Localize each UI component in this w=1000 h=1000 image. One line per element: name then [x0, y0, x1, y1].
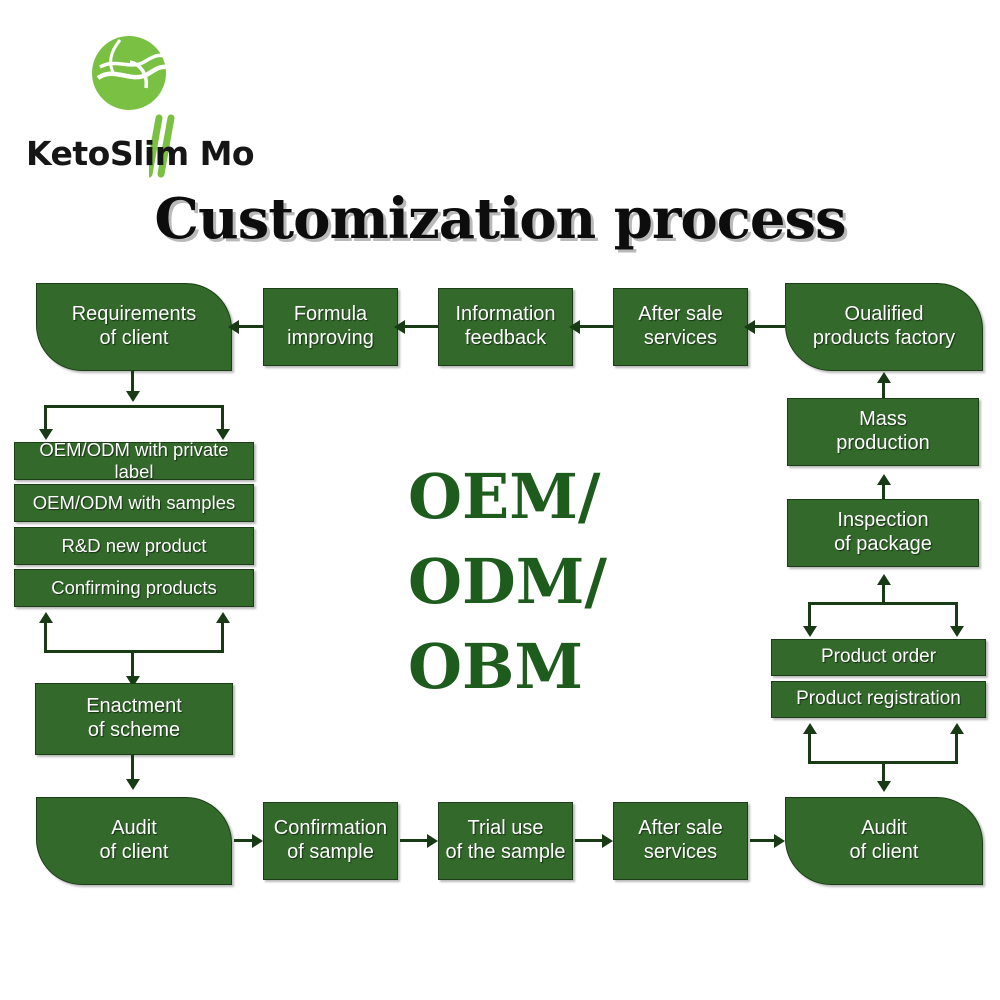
arrowhead-right-split-a — [803, 626, 817, 637]
connector-left-split-bar — [44, 405, 224, 408]
center-label-line-1: OEM/ — [408, 460, 601, 533]
diagram-canvas: KetoSlim Mo Customization process Requir… — [0, 0, 1000, 1000]
node-oem-odm-samples[interactable]: OEM/ODM with samples — [14, 484, 254, 522]
node-requirements-of-client[interactable]: Requirements of client — [36, 283, 232, 371]
node-enactment-of-scheme[interactable]: Enactment of scheme — [35, 683, 233, 755]
node-formula-improving[interactable]: Formula improving — [263, 288, 398, 366]
green-leaf-globe-icon — [90, 34, 168, 112]
node-oem-odm-private-label[interactable]: OEM/ODM with private label — [14, 442, 254, 480]
arrowhead-right-bottom-down — [877, 781, 891, 792]
arrowhead-aftersale-to-information — [569, 320, 580, 334]
node-product-order[interactable]: Product order — [771, 639, 986, 676]
node-audit-of-client-left[interactable]: Audit of client — [36, 797, 232, 885]
node-after-sale-services-bottom[interactable]: After sale services — [613, 802, 748, 880]
node-audit-of-client-right[interactable]: Audit of client — [785, 797, 983, 885]
arrowhead-information-to-formula — [394, 320, 405, 334]
connector-up-into-confirming-a — [44, 620, 47, 652]
arrowhead-right-split-b — [950, 626, 964, 637]
connector-left-split-branch-b — [221, 405, 224, 431]
node-confirmation-of-sample[interactable]: Confirmation of sample — [263, 802, 398, 880]
node-qualified-products-factory[interactable]: Oualified products factory — [785, 283, 983, 371]
arrowhead-audit-to-confirmation — [252, 834, 263, 848]
arrowhead-trial-to-aftersale — [602, 834, 613, 848]
node-product-registration[interactable]: Product registration — [771, 681, 986, 718]
node-trial-use-of-the-sample[interactable]: Trial use of the sample — [438, 802, 573, 880]
connector-right-split-branch-a — [808, 602, 811, 628]
arrowhead-formula-to-requirements — [228, 320, 239, 334]
arrowhead-aftersale-to-audit — [774, 834, 785, 848]
connector-information-to-formula — [400, 325, 438, 328]
brand-name: KetoSlim Mo — [26, 134, 286, 174]
connector-left-merge-stem — [131, 650, 134, 678]
connector-right-bottom-stem — [882, 761, 885, 783]
arrowhead-requirements-down — [126, 391, 140, 402]
connector-factory-to-aftersale — [750, 325, 785, 328]
connector-right-merge-stem — [882, 582, 885, 604]
node-mass-production[interactable]: Mass production — [787, 398, 979, 466]
brand-logo: KetoSlim Mo — [24, 34, 284, 164]
connector-inspection-to-mass — [882, 482, 885, 500]
node-inspection-of-package[interactable]: Inspection of package — [787, 499, 979, 567]
arrowhead-enactment-to-audit — [126, 779, 140, 790]
center-label-line-3: OBM — [408, 630, 583, 703]
arrowhead-factory-to-aftersale — [744, 320, 755, 334]
connector-up-into-registration-a — [808, 731, 811, 763]
connector-up-into-confirming-b — [221, 620, 224, 652]
connector-requirements-down — [131, 371, 134, 393]
connector-right-split-bar — [808, 602, 958, 605]
page-title: Customization process — [0, 186, 1000, 252]
connector-mass-to-factory — [882, 380, 885, 399]
node-rd-new-product[interactable]: R&D new product — [14, 527, 254, 565]
connector-up-into-registration-b — [955, 731, 958, 763]
node-confirming-products[interactable]: Confirming products — [14, 569, 254, 607]
arrowhead-confirmation-to-trial — [427, 834, 438, 848]
connector-enactment-to-audit — [131, 755, 134, 781]
connector-left-merge-bar — [44, 650, 224, 653]
center-label-line-2: ODM/ — [408, 545, 607, 618]
node-information-feedback[interactable]: Information feedback — [438, 288, 573, 366]
connector-left-split-branch-a — [44, 405, 47, 431]
connector-right-split-branch-b — [955, 602, 958, 628]
node-after-sale-services-top[interactable]: After sale services — [613, 288, 748, 366]
connector-aftersale-to-information — [575, 325, 613, 328]
